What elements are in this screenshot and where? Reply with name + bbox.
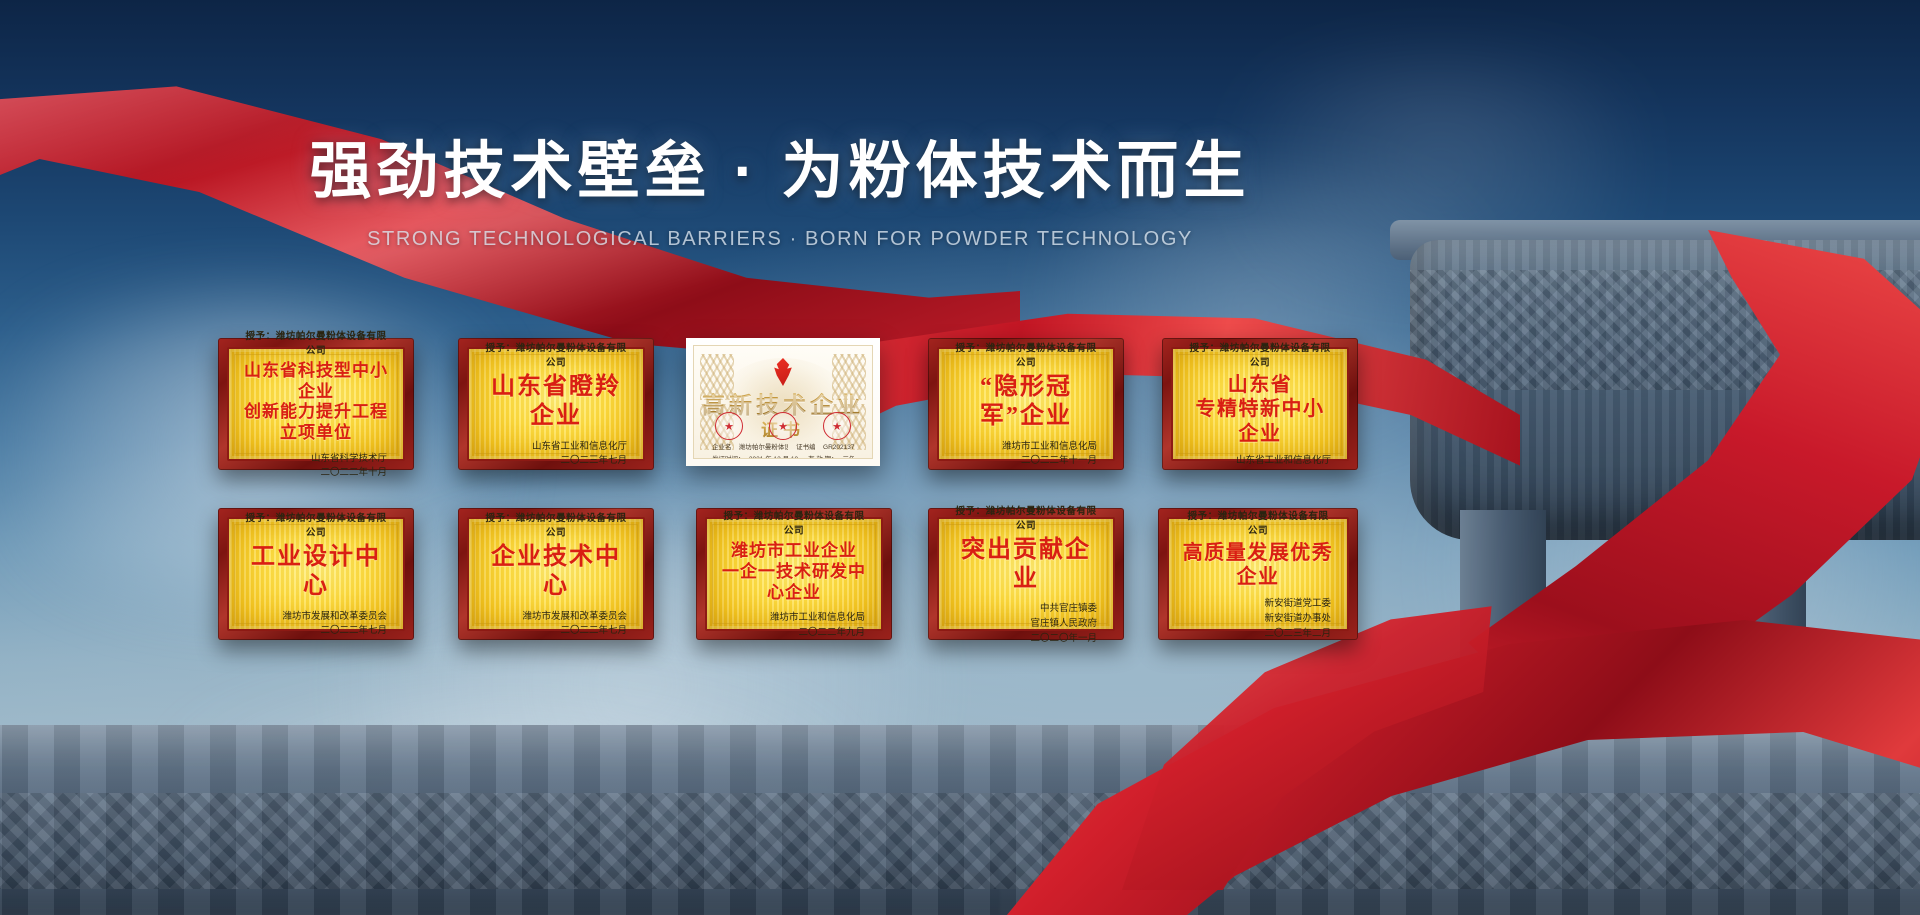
award-title: 高质量发展优秀企业 xyxy=(1181,541,1335,590)
award-title: 工业设计中心 xyxy=(241,543,391,602)
award-issuer: 新安街道党工委 新安街道办事处 二〇二三年二月 xyxy=(1181,597,1335,641)
certificate-field-row: 发证时间： 2021 年 12 月 10 日 有 效 期： 三年 xyxy=(712,454,854,459)
award-issuer-line: 潍坊市工业和信息化局 xyxy=(719,611,865,626)
certificate-valid-value: 三年 xyxy=(842,454,854,459)
award-date: 二〇二三年二月 xyxy=(1181,627,1331,642)
award-plaque[interactable]: 授予：潍坊帕尔曼粉体设备有限公司 山东省科技型中小企业 创新能力提升工程立项单位… xyxy=(218,338,414,470)
award-recipient: 授予：潍坊帕尔曼粉体设备有限公司 xyxy=(1188,340,1332,369)
certificate-field-row: 企业名称： 潍坊帕尔曼粉体设备有限公司 证书编号： GR202137010165 xyxy=(712,442,854,454)
award-date: 二〇二三年七月 xyxy=(481,454,627,469)
award-plaque-face: 授予：潍坊帕尔曼粉体设备有限公司 潍坊市工业企业 一企一技术研发中心企业 潍坊市… xyxy=(705,517,883,631)
award-issuer: 潍坊市工业和信息化局 二〇二二年十一月 xyxy=(951,440,1101,469)
award-recipient: 授予：潍坊帕尔曼粉体设备有限公司 xyxy=(1184,507,1332,536)
award-recipient: 授予：潍坊帕尔曼粉体设备有限公司 xyxy=(722,508,866,537)
award-issuer: 山东省工业和信息化厅 xyxy=(1185,454,1335,469)
award-date: 二〇二二年十月 xyxy=(241,466,387,481)
official-seal-icon xyxy=(769,412,797,440)
award-issuer: 潍坊市工业和信息化局 二〇二二年九月 xyxy=(719,611,869,640)
award-issuer-line: 新安街道党工委 xyxy=(1181,597,1331,612)
award-recipient: 授予：潍坊帕尔曼粉体设备有限公司 xyxy=(244,327,388,356)
award-recipient: 授予：潍坊帕尔曼粉体设备有限公司 xyxy=(484,340,628,369)
award-title: 突出贡献企业 xyxy=(951,536,1101,595)
award-title: 山东省瞪羚企业 xyxy=(481,373,631,432)
award-issuer: 山东省科学技术厅 二〇二二年十月 xyxy=(241,452,391,481)
award-plaque-face: 授予：潍坊帕尔曼粉体设备有限公司 山东省科技型中小企业 创新能力提升工程立项单位… xyxy=(227,347,405,461)
award-date: 二〇二二年七月 xyxy=(481,624,627,639)
award-title: 山东省科技型中小企业 创新能力提升工程立项单位 xyxy=(241,361,391,444)
award-issuer-line: 潍坊市发展和改革委员会 xyxy=(481,610,627,625)
award-plaque-face: 授予：潍坊帕尔曼粉体设备有限公司 高质量发展优秀企业 新安街道党工委 新安街道办… xyxy=(1167,517,1349,631)
award-plaque[interactable]: 授予：潍坊帕尔曼粉体设备有限公司 山东省 专精特新中小企业 山东省工业和信息化厅 xyxy=(1162,338,1358,470)
award-plaque[interactable]: 授予：潍坊帕尔曼粉体设备有限公司 工业设计中心 潍坊市发展和改革委员会 二〇二二… xyxy=(218,508,414,640)
award-title: 潍坊市工业企业 一企一技术研发中心企业 xyxy=(719,541,869,603)
award-title: 企业技术中心 xyxy=(481,543,631,602)
certificate-seals xyxy=(694,412,872,440)
award-plaque[interactable]: 授予：潍坊帕尔曼粉体设备有限公司 企业技术中心 潍坊市发展和改革委员会 二〇二二… xyxy=(458,508,654,640)
award-issuer-line: 潍坊市发展和改革委员会 xyxy=(241,610,387,625)
certificate-fields: 企业名称： 潍坊帕尔曼粉体设备有限公司 证书编号： GR202137010165… xyxy=(712,442,854,459)
award-title-line: 山东省科技型中小企业 xyxy=(241,361,391,402)
awards-gallery: 授予：潍坊帕尔曼粉体设备有限公司 山东省科技型中小企业 创新能力提升工程立项单位… xyxy=(0,0,1920,915)
award-plaque-face: 授予：潍坊帕尔曼粉体设备有限公司 山东省瞪羚企业 山东省工业和信息化厅 二〇二三… xyxy=(467,347,645,461)
award-title-line: “隐形冠军”企业 xyxy=(951,373,1101,432)
high-tech-certificate[interactable]: 高新技术企业 证书 企业名称： 潍坊帕尔曼粉体设备有限公司 证书编号： GR20… xyxy=(686,338,880,466)
award-title: “隐形冠军”企业 xyxy=(951,373,1101,432)
award-recipient: 授予：潍坊帕尔曼粉体设备有限公司 xyxy=(954,340,1098,369)
award-date: 二〇二二年十一月 xyxy=(951,454,1097,469)
award-title-line: 企业技术中心 xyxy=(481,543,631,602)
award-title-line: 潍坊市工业企业 xyxy=(719,541,869,562)
certificate-face: 高新技术企业 证书 企业名称： 潍坊帕尔曼粉体设备有限公司 证书编号： GR20… xyxy=(693,345,873,459)
award-plaque[interactable]: 授予：潍坊帕尔曼粉体设备有限公司 山东省瞪羚企业 山东省工业和信息化厅 二〇二三… xyxy=(458,338,654,470)
award-title-line: 专精特新中小企业 xyxy=(1185,397,1335,446)
official-seal-icon xyxy=(823,412,851,440)
award-issuer: 潍坊市发展和改革委员会 二〇二二年七月 xyxy=(481,610,631,639)
certificate-no-label: 证书编号： xyxy=(796,442,815,454)
award-title-line: 创新能力提升工程立项单位 xyxy=(241,402,391,443)
award-date: 二〇二〇年一月 xyxy=(951,632,1097,647)
award-issuer-line: 山东省工业和信息化厅 xyxy=(1185,454,1331,469)
certificate-company-value: 潍坊帕尔曼粉体设备有限公司 xyxy=(739,442,788,454)
award-recipient: 授予：潍坊帕尔曼粉体设备有限公司 xyxy=(244,510,388,539)
award-title: 山东省 专精特新中小企业 xyxy=(1185,373,1335,446)
hero-banner: 强劲技术壁垒 · 为粉体技术而生 STRONG TECHNOLOGICAL BA… xyxy=(0,0,1920,915)
award-issuer-line: 新安街道办事处 xyxy=(1181,612,1331,627)
award-issuer-line: 山东省科学技术厅 xyxy=(241,452,387,467)
award-date: 二〇二二年九月 xyxy=(719,626,865,641)
award-issuer: 山东省工业和信息化厅 二〇二三年七月 xyxy=(481,440,631,469)
award-title-line: 一企一技术研发中心企业 xyxy=(719,562,869,603)
certificate-valid-label: 有 效 期： xyxy=(808,454,834,459)
official-seal-icon xyxy=(715,412,743,440)
award-date: 二〇二二年七月 xyxy=(241,624,387,639)
award-title-line: 突出贡献企业 xyxy=(951,536,1101,595)
award-plaque-face: 授予：潍坊帕尔曼粉体设备有限公司 山东省 专精特新中小企业 山东省工业和信息化厅 xyxy=(1171,347,1349,461)
award-title-line: 山东省 xyxy=(1185,373,1335,397)
award-issuer-line: 山东省工业和信息化厅 xyxy=(481,440,627,455)
certificate-issue-date-value: 2021 年 12 月 10 日 xyxy=(749,454,800,459)
award-recipient: 授予：潍坊帕尔曼粉体设备有限公司 xyxy=(954,502,1098,531)
award-plaque[interactable]: 授予：潍坊帕尔曼粉体设备有限公司 潍坊市工业企业 一企一技术研发中心企业 潍坊市… xyxy=(696,508,892,640)
award-issuer: 中共官庄镇委 官庄镇人民政府 二〇二〇年一月 xyxy=(951,602,1101,646)
award-title-line: 高质量发展优秀企业 xyxy=(1181,541,1335,590)
award-plaque-face: 授予：潍坊帕尔曼粉体设备有限公司 突出贡献企业 中共官庄镇委 官庄镇人民政府 二… xyxy=(937,517,1115,631)
award-title-line: 工业设计中心 xyxy=(241,543,391,602)
award-plaque-face: 授予：潍坊帕尔曼粉体设备有限公司 企业技术中心 潍坊市发展和改革委员会 二〇二二… xyxy=(467,517,645,631)
award-issuer: 潍坊市发展和改革委员会 二〇二二年七月 xyxy=(241,610,391,639)
certificate-company-label: 企业名称： xyxy=(712,442,731,454)
award-plaque-face: 授予：潍坊帕尔曼粉体设备有限公司 “隐形冠军”企业 潍坊市工业和信息化局 二〇二… xyxy=(937,347,1115,461)
award-plaque-face: 授予：潍坊帕尔曼粉体设备有限公司 工业设计中心 潍坊市发展和改革委员会 二〇二二… xyxy=(227,517,405,631)
award-plaque[interactable]: 授予：潍坊帕尔曼粉体设备有限公司 高质量发展优秀企业 新安街道党工委 新安街道办… xyxy=(1158,508,1358,640)
award-issuer-line: 潍坊市工业和信息化局 xyxy=(951,440,1097,455)
award-title-line: 山东省瞪羚企业 xyxy=(481,373,631,432)
award-recipient: 授予：潍坊帕尔曼粉体设备有限公司 xyxy=(484,510,628,539)
award-plaque[interactable]: 授予：潍坊帕尔曼粉体设备有限公司 “隐形冠军”企业 潍坊市工业和信息化局 二〇二… xyxy=(928,338,1124,470)
certificate-no-value: GR202137010165 xyxy=(823,442,854,454)
award-issuer-line: 中共官庄镇委 xyxy=(951,602,1097,617)
award-plaque[interactable]: 授予：潍坊帕尔曼粉体设备有限公司 突出贡献企业 中共官庄镇委 官庄镇人民政府 二… xyxy=(928,508,1124,640)
certificate-issue-date-label: 发证时间： xyxy=(712,454,741,459)
award-issuer-line: 官庄镇人民政府 xyxy=(951,617,1097,632)
